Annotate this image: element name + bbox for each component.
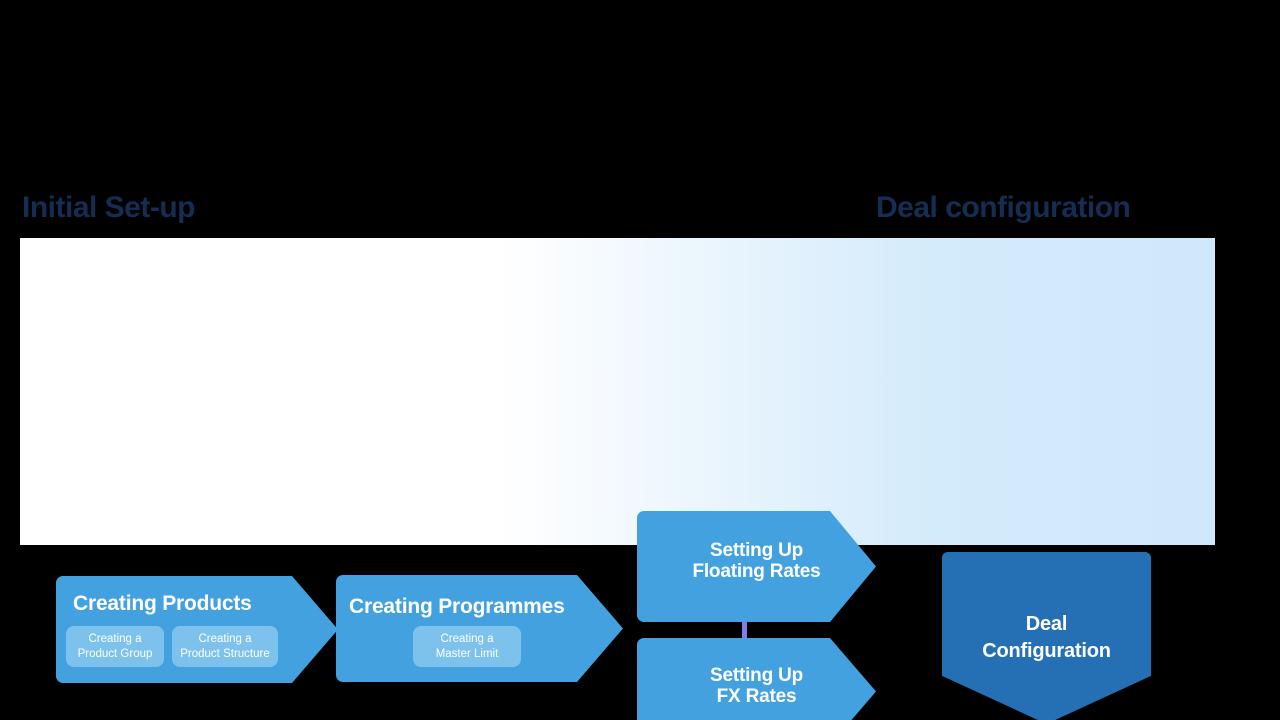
subitem-creating-a-master-limit[interactable]: Creating aMaster Limit [413, 626, 521, 667]
slide-canvas: Initial Set-up Deal configuration Creati… [0, 0, 1280, 720]
flow-stage-deal-configuration[interactable]: DealConfiguration [942, 552, 1151, 720]
flow-stage-title-setting-up-floating-rates: Setting UpFloating Rates [637, 540, 922, 583]
flow-stage-setting-up-fx-rates[interactable]: Setting UpFX Rates [637, 638, 876, 720]
flow-stage-title-creating-programmes: Creating Programmes [336, 595, 636, 619]
section-heading-initial-setup: Initial Set-up [22, 193, 195, 223]
subitem-creating-a-product-group[interactable]: Creating aProduct Group [66, 626, 164, 667]
flow-stage-setting-up-floating-rates[interactable]: Setting UpFloating Rates [637, 511, 876, 622]
flow-stage-title-creating-products: Creating Products [56, 592, 355, 616]
connector-floating-rates-to-fx-rates [742, 621, 747, 640]
subitem-creating-a-product-structure[interactable]: Creating aProduct Structure [172, 626, 278, 667]
flow-stage-title-setting-up-fx-rates: Setting UpFX Rates [637, 665, 922, 708]
flow-diagram-panel: Creating Products Creating aProduct Grou… [20, 238, 1215, 545]
section-heading-deal-configuration: Deal configuration [876, 193, 1130, 223]
flow-stage-title-deal-configuration: DealConfiguration [942, 611, 1151, 665]
